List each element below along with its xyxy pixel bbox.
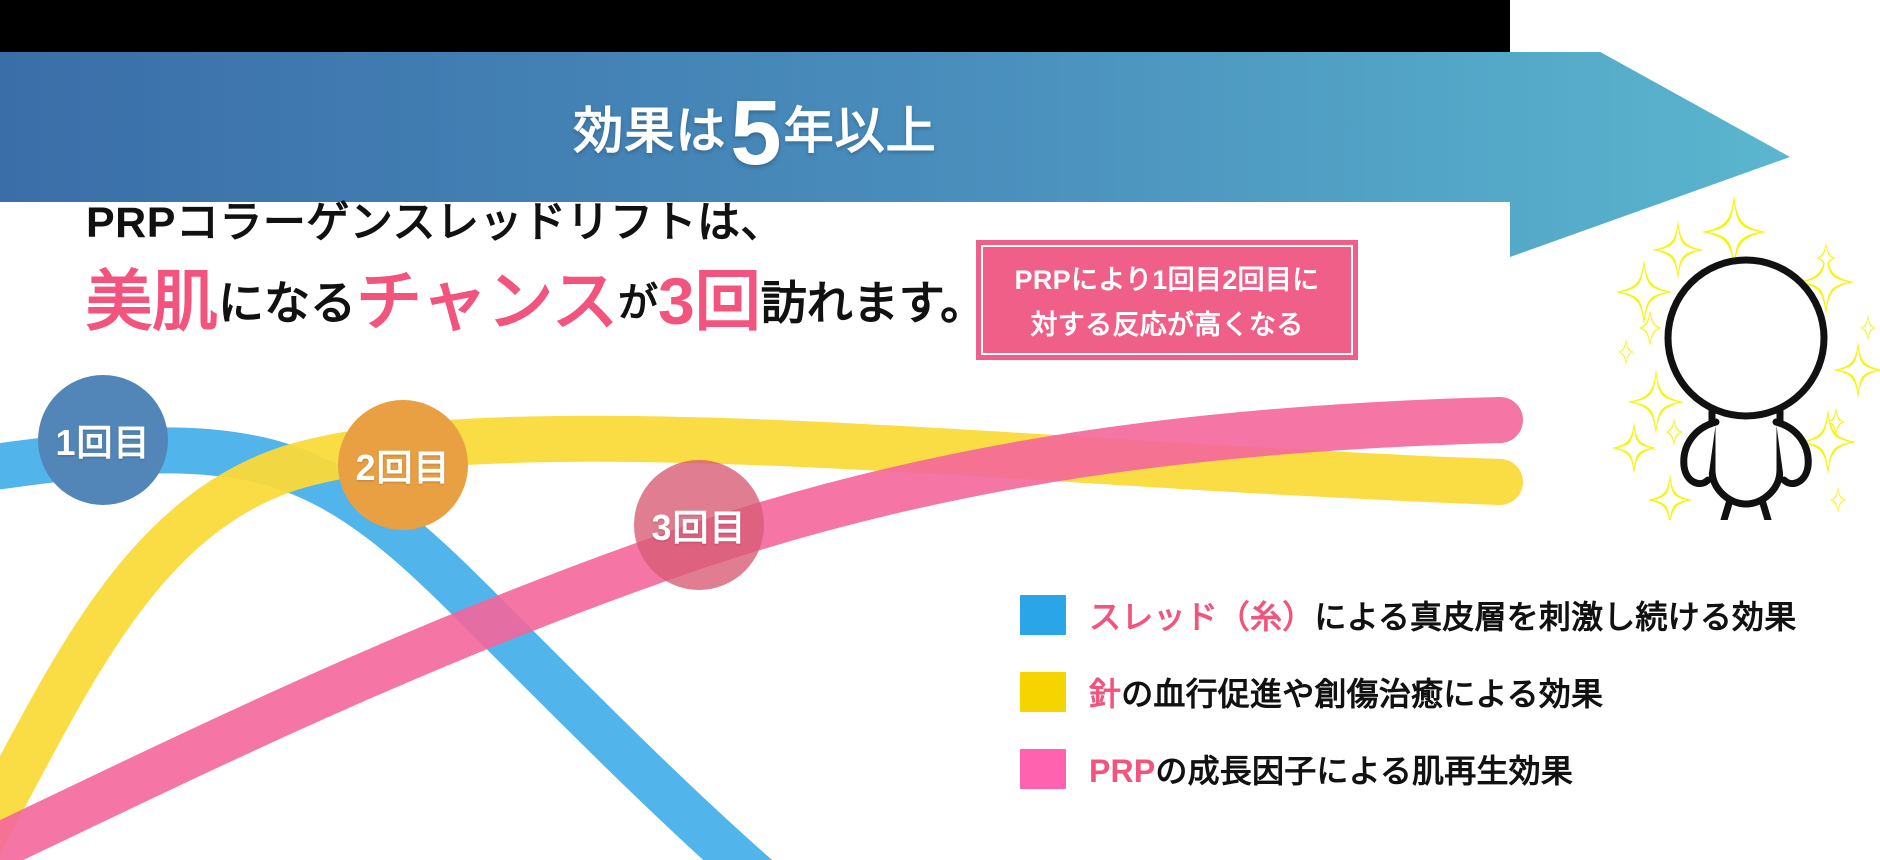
- legend-accent-prp: PRP: [1089, 753, 1155, 789]
- legend-label-needle: 針の血行促進や創傷治癒による効果: [1089, 669, 1603, 715]
- legend-rest-thread: による真皮層を刺激し続ける効果: [1314, 599, 1796, 635]
- session-circle-3[interactable]: 3回目: [634, 460, 764, 590]
- callout-box: PRPにより1回目2回目に 対する反応が高くなる: [976, 240, 1358, 360]
- legend-swatch-yellow: [1020, 672, 1066, 712]
- callout-line-2: 対する反応が高くなる: [1031, 303, 1304, 342]
- callout-inner-border: PRPにより1回目2回目に 対する反応が高くなる: [981, 245, 1353, 355]
- headline-otozuremasu: 訪れます。: [761, 277, 986, 329]
- session-circle-1[interactable]: 1回目: [38, 375, 168, 505]
- headline-line-2: 美肌になるチャンスが3回訪れます。: [86, 264, 986, 340]
- legend-item-prp: PRPの成長因子による肌再生効果: [1020, 746, 1796, 792]
- legend-accent-thread: スレッド（糸）: [1089, 599, 1314, 635]
- headline-line-1: PRPコラーゲンスレッドリフトは、: [86, 198, 986, 250]
- session-circle-2[interactable]: 2回目: [338, 400, 468, 530]
- infographic-root: 効果は 5 年以上 PRPコラーゲンスレッドリフトは、 美肌になるチャンスが3回…: [0, 0, 1880, 860]
- legend-accent-needle: 針: [1089, 676, 1121, 712]
- legend: スレッド（糸）による真皮層を刺激し続ける効果 針の血行促進や創傷治癒による効果 …: [1020, 592, 1796, 823]
- character-body: [1668, 260, 1824, 520]
- session-circle-1-label: 1回目: [55, 414, 150, 466]
- session-circle-3-label: 3回目: [651, 499, 746, 551]
- headline-ga: が: [618, 281, 658, 325]
- legend-item-thread: スレッド（糸）による真皮層を刺激し続ける効果: [1020, 592, 1796, 638]
- session-circle-2-label: 2回目: [355, 439, 450, 491]
- legend-item-needle: 針の血行促進や創傷治癒による効果: [1020, 669, 1796, 715]
- legend-rest-prp: の成長因子による肌再生効果: [1155, 753, 1573, 789]
- headline-ninaru: になる: [218, 277, 356, 329]
- legend-label-thread: スレッド（糸）による真皮層を刺激し続ける効果: [1089, 592, 1796, 638]
- callout-line-1: PRPにより1回目2回目に: [1015, 258, 1320, 297]
- legend-swatch-blue: [1020, 595, 1066, 635]
- legend-rest-needle: の血行促進や創傷治癒による効果: [1121, 676, 1603, 712]
- headline-accent-bihada: 美肌: [86, 264, 218, 338]
- sparkling-character-icon: [1612, 170, 1880, 520]
- headline-accent-3kai: 3回: [658, 264, 761, 338]
- headline-accent-chance: チャンス: [356, 264, 618, 338]
- legend-label-prp: PRPの成長因子による肌再生効果: [1089, 746, 1573, 792]
- top-black-bar: [0, 0, 1510, 52]
- headline-block: PRPコラーゲンスレッドリフトは、 美肌になるチャンスが3回訪れます。: [86, 198, 986, 339]
- legend-swatch-pink: [1020, 749, 1066, 789]
